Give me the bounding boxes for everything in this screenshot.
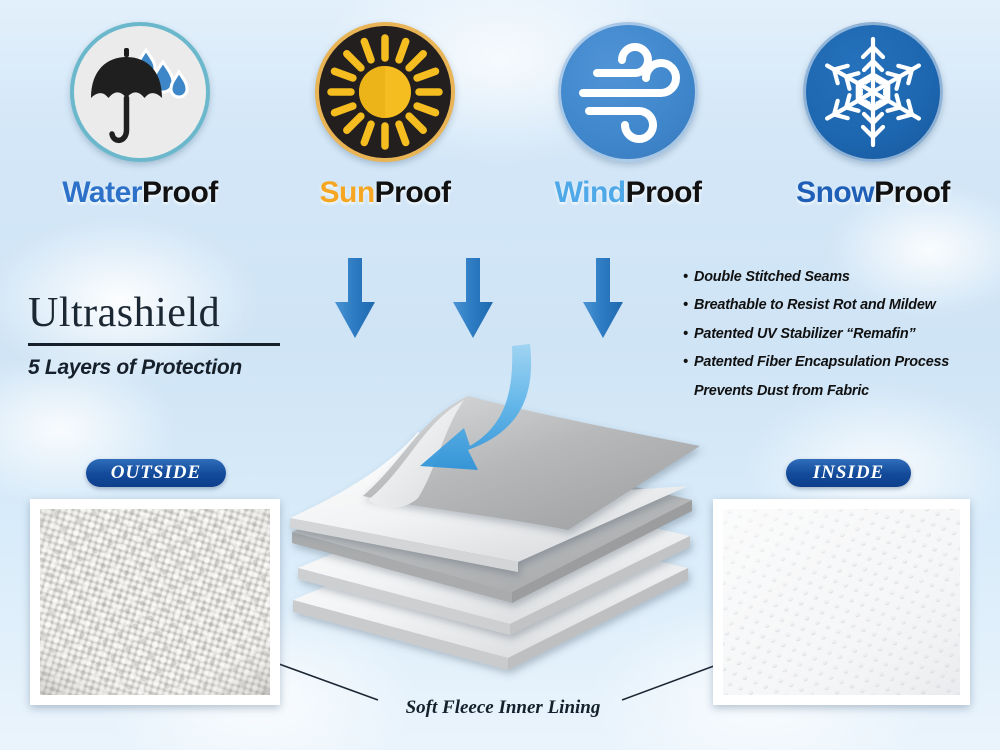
swatch-outside bbox=[30, 499, 280, 705]
status-badge-outside: OUTSIDE bbox=[86, 459, 226, 487]
woven-textured-fabric-closeup bbox=[40, 509, 270, 695]
fleece-lining-caption: Soft Fleece Inner Lining bbox=[383, 697, 623, 719]
status-badge-inside: INSIDE bbox=[786, 459, 911, 487]
dimpled-fleece-fabric-closeup bbox=[723, 509, 960, 695]
infographic-canvas: WaterProof bbox=[0, 0, 1000, 750]
swatch-inside bbox=[713, 499, 970, 705]
